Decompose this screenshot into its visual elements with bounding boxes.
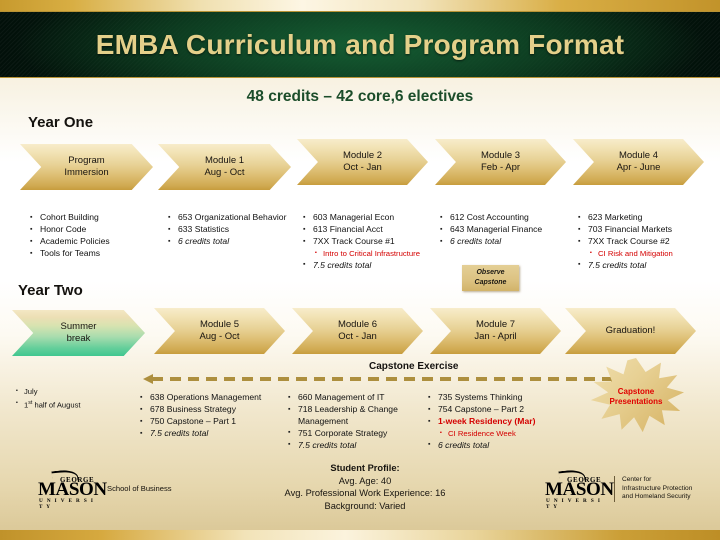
list-item-sub: Intro to Critical Infrastructure: [303, 248, 435, 259]
chevron-module-4[interactable]: Module 4 Apr - June: [573, 139, 704, 185]
list-item: 750 Capstone – Part 1: [140, 416, 280, 428]
gmu-university-text: U N I V E R S I T Y: [39, 498, 100, 510]
list-item: 6 credits total: [428, 440, 563, 452]
capstone-exercise-label: Capstone Exercise: [369, 361, 459, 372]
list-item: 660 Management of IT: [288, 392, 418, 404]
chevron-title-line2: Aug - Oct: [199, 331, 239, 344]
observe-capstone-line1: Observe: [475, 268, 507, 278]
bullets-module-5: 638 Operations Management 678 Business S…: [140, 392, 280, 440]
chevron-summer-break[interactable]: Summer break: [12, 310, 145, 356]
student-profile-line: Avg. Professional Work Experience: 16: [250, 487, 480, 500]
arrow-dashed-line: [152, 377, 612, 381]
list-item: 678 Business Strategy: [140, 404, 280, 416]
chevron-title-line1: Module 3: [481, 150, 520, 163]
observe-capstone-line2: Capstone: [475, 278, 507, 288]
gmu-mason-text: MASON: [545, 480, 614, 499]
bullets-module-7: 735 Systems Thinking 754 Capstone – Part…: [428, 392, 563, 452]
slide-canvas: EMBA Curriculum and Program Format 48 cr…: [0, 0, 720, 540]
gmu-cip-logo: GEORGE MASON U N I V E R S I T Y Center …: [545, 473, 692, 505]
school-of-business-tagline: School of Business: [107, 484, 172, 494]
chevron-title-line2: Immersion: [64, 167, 108, 180]
credits-summary: 48 credits – 42 core,6 electives: [0, 88, 720, 106]
star-line2: Presentations: [610, 397, 663, 407]
gmu-mason-text: MASON: [38, 480, 107, 499]
chevron-title-line1: Graduation!: [606, 325, 656, 338]
cip-tagline-line2: Infrastructure Protection: [622, 485, 692, 494]
list-item: 7.5 credits total: [303, 260, 435, 272]
gmu-wordmark-icon: GEORGE MASON U N I V E R S I T Y: [545, 473, 607, 505]
observe-capstone-box: Observe Capstone: [462, 265, 519, 291]
list-item: 703 Financial Markets: [578, 224, 716, 236]
bullets-module-3: 612 Cost Accounting 643 Managerial Finan…: [440, 212, 575, 248]
list-item: 653 Organizational Behavior: [168, 212, 290, 224]
list-item: Cohort Building: [30, 212, 155, 224]
bottom-gold-strip: [0, 530, 720, 540]
list-item: 7.5 credits total: [288, 440, 418, 452]
list-item: 638 Operations Management: [140, 392, 280, 404]
list-item-sub: CI Residence Week: [428, 428, 563, 439]
list-item: Academic Policies: [30, 236, 155, 248]
chevron-title-line1: Module 2: [343, 150, 382, 163]
chevron-title-line2: Feb - Apr: [481, 162, 520, 175]
bullets-program-immersion: Cohort Building Honor Code Academic Poli…: [30, 212, 155, 260]
chevron-title-line1: Module 1: [204, 155, 244, 168]
year-one-label: Year One: [28, 114, 93, 131]
star-line1: Capstone: [610, 387, 663, 397]
bullets-module-4: 623 Marketing 703 Financial Markets 7XX …: [578, 212, 716, 272]
cip-tagline-line1: Center for: [622, 476, 692, 485]
list-item: Honor Code: [30, 224, 155, 236]
chevron-title-line1: Module 5: [199, 319, 239, 332]
bullets-module-6: 660 Management of IT 718 Leadership & Ch…: [288, 392, 418, 452]
chevron-title-line2: Aug - Oct: [204, 167, 244, 180]
gmu-school-of-business-logo: GEORGE MASON U N I V E R S I T Y School …: [38, 473, 172, 505]
chevron-program-immersion[interactable]: Program Immersion: [20, 144, 153, 190]
list-item: July: [16, 386, 136, 397]
list-item: 613 Financial Acct: [303, 224, 435, 236]
capstone-presentations-star[interactable]: Capstone Presentations: [588, 358, 684, 436]
title-band: EMBA Curriculum and Program Format: [0, 11, 720, 78]
chevron-title-line2: Jan - April: [474, 331, 516, 344]
student-profile-heading: Student Profile:: [250, 462, 480, 475]
chevron-title-line1: Module 6: [338, 319, 377, 332]
chevron-title-line2: Oct - Jan: [338, 331, 377, 344]
list-item-august: 1st half of August: [16, 398, 136, 411]
list-item: 7.5 credits total: [578, 260, 716, 272]
list-item: 6 credits total: [440, 236, 575, 248]
chevron-title-line2: break: [61, 333, 97, 346]
student-profile-line: Background: Varied: [250, 500, 480, 513]
list-item: 735 Systems Thinking: [428, 392, 563, 404]
year-two-label: Year Two: [18, 282, 83, 299]
page-title: EMBA Curriculum and Program Format: [96, 29, 625, 61]
student-profile-line: Avg. Age: 40: [250, 475, 480, 488]
list-item: 754 Capstone – Part 2: [428, 404, 563, 416]
chevron-module-1[interactable]: Module 1 Aug - Oct: [158, 144, 291, 190]
cip-tagline-line3: and Homeland Security: [622, 493, 692, 502]
chevron-graduation[interactable]: Graduation!: [565, 308, 696, 354]
student-profile: Student Profile: Avg. Age: 40 Avg. Profe…: [250, 462, 480, 512]
list-item: 7.5 credits total: [140, 428, 280, 440]
list-item: 7XX Track Course #2: [578, 236, 716, 248]
list-item: 623 Marketing: [578, 212, 716, 224]
gmu-university-text: U N I V E R S I T Y: [546, 498, 607, 510]
chevron-title-line1: Module 4: [617, 150, 661, 163]
bullets-module-1: 653 Organizational Behavior 633 Statisti…: [168, 212, 290, 248]
list-item: 718 Leadership & Change Management: [288, 404, 418, 427]
chevron-title-line2: Oct - Jan: [343, 162, 382, 175]
capstone-exercise-arrow: [143, 374, 621, 384]
cip-tagline: Center for Infrastructure Protection and…: [614, 476, 692, 502]
list-item: 603 Managerial Econ: [303, 212, 435, 224]
list-item: 751 Corporate Strategy: [288, 428, 418, 440]
chevron-module-7[interactable]: Module 7 Jan - April: [430, 308, 561, 354]
list-item: 6 credits total: [168, 236, 290, 248]
list-item: 7XX Track Course #1: [303, 236, 435, 248]
list-item: 633 Statistics: [168, 224, 290, 236]
list-item: Tools for Teams: [30, 248, 155, 260]
chevron-module-3[interactable]: Module 3 Feb - Apr: [435, 139, 566, 185]
chevron-module-5[interactable]: Module 5 Aug - Oct: [154, 308, 285, 354]
chevron-module-2[interactable]: Module 2 Oct - Jan: [297, 139, 428, 185]
list-item: 612 Cost Accounting: [440, 212, 575, 224]
gmu-wordmark-icon: GEORGE MASON U N I V E R S I T Y: [38, 473, 100, 505]
bullets-module-2: 603 Managerial Econ 613 Financial Acct 7…: [303, 212, 435, 272]
top-gold-strip: [0, 0, 720, 11]
chevron-title-line2: Apr - June: [617, 162, 661, 175]
list-item: 643 Managerial Finance: [440, 224, 575, 236]
list-item-sub: CI Risk and Mitigation: [578, 248, 716, 259]
bullets-summer-break: July 1st half of August: [16, 386, 136, 411]
chevron-title-line1: Summer: [61, 321, 97, 334]
list-item: 1-week Residency (Mar): [428, 416, 563, 428]
chevron-title-line1: Program: [64, 155, 108, 168]
chevron-title-line1: Module 7: [474, 319, 516, 332]
chevron-module-6[interactable]: Module 6 Oct - Jan: [292, 308, 423, 354]
